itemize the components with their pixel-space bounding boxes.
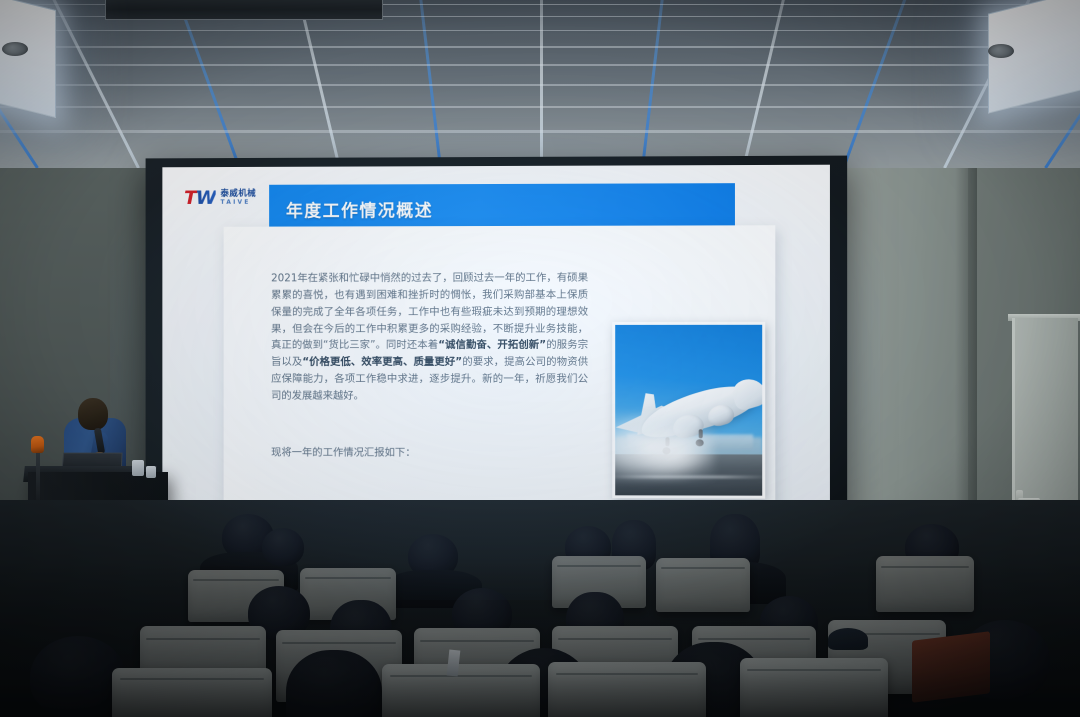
seat <box>740 658 888 717</box>
logo-company-en: TAIVE <box>221 200 257 206</box>
seat <box>112 668 272 717</box>
company-logo: TW 泰威机械 TAIVE <box>184 187 256 209</box>
slide-body-emphasis: “诚信勤奋、开拓创新” <box>438 339 546 351</box>
slide-title: 年度工作情况概述 <box>286 196 433 221</box>
seat <box>656 558 750 612</box>
audience-head <box>286 650 382 717</box>
podium-object <box>146 466 156 478</box>
slide-content-card: 2021年在紧张和忙碌中悄然的过去了，回顾过去一年的工作，有硕果累累的喜悦，也有… <box>224 225 776 509</box>
logo-mark-icon: TW <box>184 187 216 209</box>
podium-microphone <box>31 436 44 453</box>
seat <box>876 556 974 612</box>
seat <box>548 662 706 717</box>
logo-company-cn: 泰威机械 <box>221 190 257 199</box>
ceiling-speaker-icon <box>2 42 28 56</box>
audience-head-with-cap <box>828 628 868 650</box>
airplane-takeoff-photo <box>612 322 765 499</box>
ceiling-lateral-rail <box>0 46 1080 48</box>
ceiling-grid <box>0 0 1080 168</box>
slide-body-text: 2021年在紧张和忙碌中悄然的过去了，回顾过去一年的工作，有硕果累累的喜悦，也有… <box>271 270 588 405</box>
ceiling-lateral-rail <box>0 64 1080 66</box>
photo-canvas <box>615 325 762 496</box>
ceiling-lateral-rail <box>0 130 1080 133</box>
slide-closing-line: 现将一年的工作情况汇报如下： <box>271 444 590 460</box>
audience-head <box>262 528 304 566</box>
logo-wordmark: 泰威机械 TAIVE <box>221 190 257 206</box>
ceiling-panel-light <box>0 0 56 118</box>
slide-body-emphasis: “价格更低、效率更高、质量更好” <box>302 356 462 368</box>
screenshot-root: TW 泰威机械 TAIVE 年度工作情况概述 2021年在紧张和忙碌中悄然的过去… <box>0 0 1080 717</box>
ceiling-lateral-rail <box>0 30 1080 31</box>
ceiling-lateral-rail <box>0 106 1080 108</box>
presenter-head <box>78 398 108 430</box>
photo-engine-exhaust-smoke <box>636 427 715 478</box>
ceiling-air-vent <box>105 0 383 20</box>
seat <box>382 664 540 717</box>
ceiling-lateral-rail <box>0 84 1080 86</box>
suspended-grid-ceiling <box>0 0 1080 168</box>
ceiling-speaker-icon <box>988 44 1014 58</box>
podium-object <box>132 460 144 476</box>
wooden-desk-rail <box>912 631 990 703</box>
